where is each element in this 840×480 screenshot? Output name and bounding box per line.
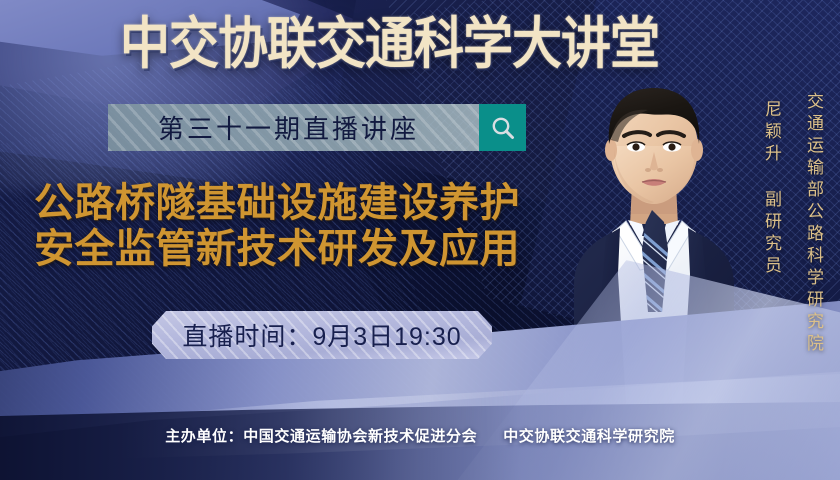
- speaker-name-title: 尼颖升 副研究员: [759, 100, 784, 278]
- live-stream-poster: 中交协联交通科学大讲堂 第三十一期直播讲座 公路桥隧基础设施建设养护 安全监管新…: [0, 0, 840, 480]
- topic-line-1: 公路桥隧基础设施建设养护: [34, 180, 520, 226]
- schedule-badge: 直播时间：9月3日19:30: [152, 311, 492, 359]
- organizer-suffix: 中交协联交通科学研究院: [503, 428, 675, 445]
- organizer-prefix: 主办单位：中国交通运输协会新技术促进分会: [165, 428, 477, 445]
- schedule-label: 直播时间：9月3日19:30: [152, 311, 492, 359]
- lecture-topic: 公路桥隧基础设施建设养护 安全监管新技术研发及应用: [34, 180, 520, 273]
- bottom-satin-ribbon: [0, 280, 840, 480]
- episode-label-panel: 第三十一期直播讲座: [108, 104, 479, 151]
- page-title: 中交协联交通科学大讲堂: [120, 16, 659, 72]
- topic-line-2: 安全监管新技术研发及应用: [34, 226, 520, 272]
- search-icon[interactable]: [479, 104, 526, 151]
- speaker-organization: 交通运输部公路科学研究院: [801, 92, 826, 356]
- episode-label: 第三十一期直播讲座: [108, 104, 479, 151]
- episode-bar: 第三十一期直播讲座: [108, 104, 526, 151]
- organizer-footer: 主办单位：中国交通运输协会新技术促进分会中交协联交通科学研究院: [0, 425, 840, 446]
